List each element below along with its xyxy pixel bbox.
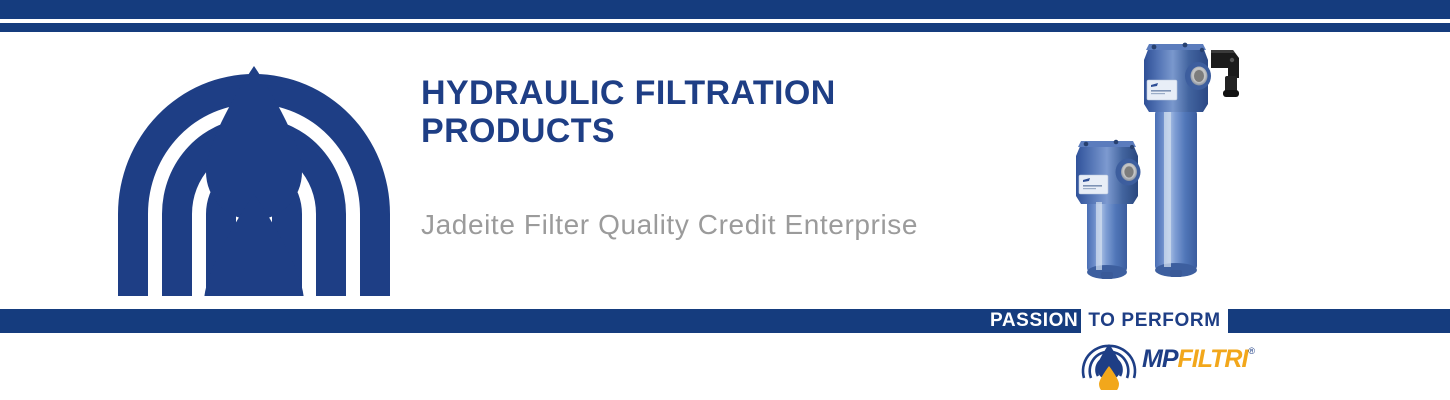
top-thin-rule [0, 23, 1450, 32]
headline-line-2: PRODUCTS [421, 112, 1021, 150]
top-thick-rule [0, 0, 1450, 19]
headline-line-1: HYDRAULIC FILTRATION [421, 74, 1021, 112]
hydraulic-filter-product-photo [1065, 32, 1285, 309]
brand-filtri-text: FILTRI [1178, 346, 1248, 372]
mpfiltri-logo: MP FILTRI ® [1080, 338, 1260, 390]
registered-trademark-icon: ® [1248, 346, 1255, 357]
tagline-to-perform: TO PERFORM [1081, 309, 1227, 333]
bottom-rule [0, 309, 1450, 333]
mpfiltri-droplet-mark [1080, 338, 1138, 390]
tagline-passion: PASSION [990, 309, 1081, 333]
brand-mp-text: MP [1142, 346, 1178, 372]
tagline-strip: PASSION TO PERFORM [990, 309, 1228, 333]
jadeite-droplet-logo [118, 44, 390, 296]
hydraulic-filtration-banner: HYDRAULIC FILTRATION PRODUCTS Jadeite Fi… [0, 0, 1450, 400]
page-title: HYDRAULIC FILTRATION PRODUCTS [421, 74, 1021, 150]
subtitle: Jadeite Filter Quality Credit Enterprise [421, 209, 918, 241]
